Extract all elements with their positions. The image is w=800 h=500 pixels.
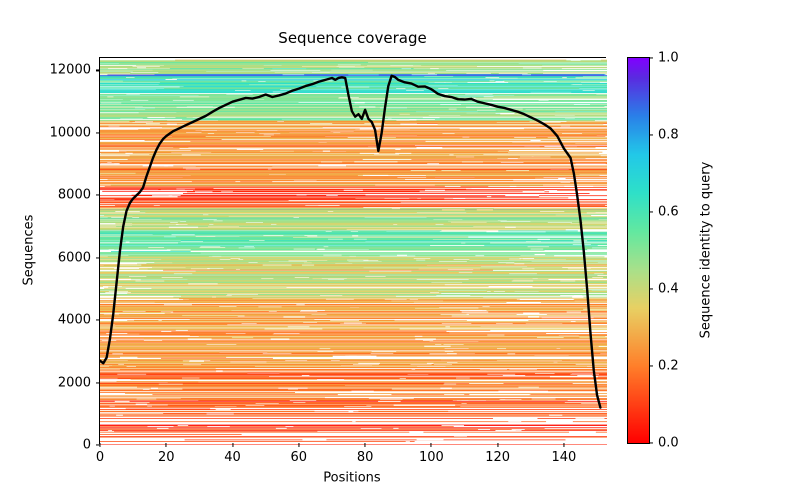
y-tick-label-2000: 2000 — [31, 375, 100, 390]
x-tick-label-60: 60 — [291, 450, 308, 465]
x-tick-label-80: 80 — [357, 450, 374, 465]
colorbar-tick-label-1.0: 1.0 — [658, 51, 679, 66]
x-tick-label-0: 0 — [96, 450, 104, 465]
x-tick-mark — [431, 443, 432, 447]
plot-axes: 0200040006000800010000120000204060801001… — [99, 57, 606, 444]
y-tick-label-0: 0 — [31, 438, 100, 453]
y-tick-label-4000: 4000 — [31, 313, 100, 328]
colorbar-tick-mark — [649, 57, 653, 58]
x-axis-label: Positions — [323, 471, 380, 486]
x-tick-mark — [99, 443, 100, 447]
x-tick-mark — [232, 443, 233, 447]
x-tick-mark — [166, 443, 167, 447]
x-tick-mark — [497, 443, 498, 447]
colorbar-tick-label-0.6: 0.6 — [658, 205, 679, 220]
colorbar-tick-mark — [649, 365, 653, 366]
x-tick-label-140: 140 — [551, 450, 576, 465]
colorbar-tick-mark — [649, 288, 653, 289]
colorbar-gradient — [628, 58, 649, 443]
y-tick-label-12000: 12000 — [31, 63, 100, 78]
colorbar-tick-mark — [649, 442, 653, 443]
colorbar-tick-label-0.0: 0.0 — [658, 436, 679, 451]
x-tick-label-120: 120 — [485, 450, 510, 465]
colorbar-tick-label-0.8: 0.8 — [658, 128, 679, 143]
coverage-line — [100, 58, 607, 445]
x-tick-label-100: 100 — [419, 450, 444, 465]
colorbar-tick-label-0.4: 0.4 — [658, 282, 679, 297]
colorbar: 0.00.20.40.60.81.0 — [627, 57, 650, 444]
colorbar-tick-mark — [649, 211, 653, 212]
x-tick-label-20: 20 — [158, 450, 175, 465]
y-tick-label-10000: 10000 — [31, 125, 100, 140]
x-tick-mark — [298, 443, 299, 447]
colorbar-label: Sequence identity to query — [699, 162, 714, 339]
y-tick-label-8000: 8000 — [31, 188, 100, 203]
x-tick-mark — [563, 443, 564, 447]
y-axis-label: Sequences — [22, 215, 37, 286]
colorbar-tick-label-0.2: 0.2 — [658, 359, 679, 374]
x-tick-label-40: 40 — [224, 450, 241, 465]
x-tick-mark — [365, 443, 366, 447]
y-tick-label-6000: 6000 — [31, 250, 100, 265]
page-title: Sequence coverage — [99, 29, 606, 47]
colorbar-tick-mark — [649, 134, 653, 135]
figure-canvas: Sequence coverage 0200040006000800010000… — [0, 0, 800, 500]
